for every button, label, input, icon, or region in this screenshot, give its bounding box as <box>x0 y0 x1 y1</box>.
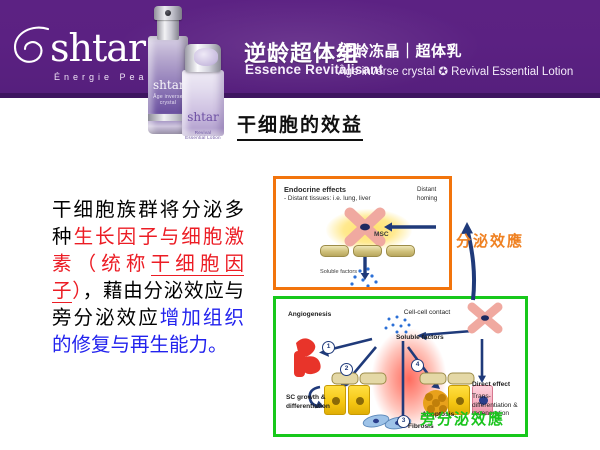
bottle-short-cap-inner <box>194 48 218 66</box>
bottle-tall-pump-dot <box>165 10 171 16</box>
header-banner: shtar Énergie Peau 逆龄超体组 Essence Revital… <box>0 0 600 93</box>
endocrine-diagram-svg <box>276 179 452 290</box>
endocrine-vessel-cells <box>320 245 416 258</box>
body-seg-4-red: ） <box>72 279 83 302</box>
step-number-4: 4 <box>411 359 424 372</box>
msc-cell-icon-2 <box>472 307 498 329</box>
sc-growth-label: SC growth & differentiation <box>286 394 346 411</box>
banner-bottom-rule <box>0 93 600 98</box>
bottle-tall-label: Âge inverse crystal <box>152 94 184 106</box>
paracrine-soluble-factors-label: Soluble factors <box>396 334 444 343</box>
logo-wordmark: shtar <box>50 26 145 70</box>
bottle-short-label: Revival Essential Lotion <box>184 130 222 140</box>
body-paragraph: 干细胞族群将分泌多种生长因子与细胞激素（统称干细胞因子），藉由分泌效应与旁分泌效… <box>52 196 244 358</box>
banner-subtitle-en: Âge inverse crystal ✪ Revival Essential … <box>338 64 573 78</box>
banner-subtitle-cn: 逆龄冻晶｜超体乳 <box>338 40 462 61</box>
slide-canvas: shtar Énergie Peau 逆龄超体组 Essence Revital… <box>0 0 600 450</box>
step-number-1: 1 <box>322 341 335 354</box>
bottle-short-cap <box>185 44 221 72</box>
product-bottle-short: shtar Revival Essential Lotion <box>182 44 224 136</box>
bottle-tall-mark: shtar <box>153 78 183 92</box>
bottle-short-mark: shtar <box>186 110 220 124</box>
page-title: 干细胞的效益 <box>237 110 363 141</box>
endocrine-effects-box: Endocrine effects - Distant tissues: i.e… <box>273 176 452 290</box>
direct-effect-label: Direct effect <box>472 381 510 390</box>
cell-cell-contact-label: Cell-cell contact <box>402 309 452 318</box>
endocrine-annotation-cn: 分泌效應 <box>456 230 524 251</box>
epithelial-cell <box>348 385 370 415</box>
tissue-vessel-row-left <box>332 373 386 384</box>
paracrine-soluble-dots <box>385 316 411 334</box>
bottle-short-body: shtar Revival Essential Lotion <box>182 70 224 136</box>
step-number-2: 2 <box>340 363 353 376</box>
paracrine-annotation-cn: 旁分泌效應 <box>420 408 505 429</box>
blood-vessel-icon <box>294 338 321 377</box>
tissue-vessel-row-right <box>420 373 474 384</box>
product-photo: shtar Âge inverse crystal shtar Revival … <box>134 0 232 143</box>
msc-label: MSC <box>374 231 389 238</box>
angiogenesis-label: Angiogenesis <box>288 311 331 320</box>
endocrine-soluble-factors-label: Soluble factors <box>320 269 357 275</box>
